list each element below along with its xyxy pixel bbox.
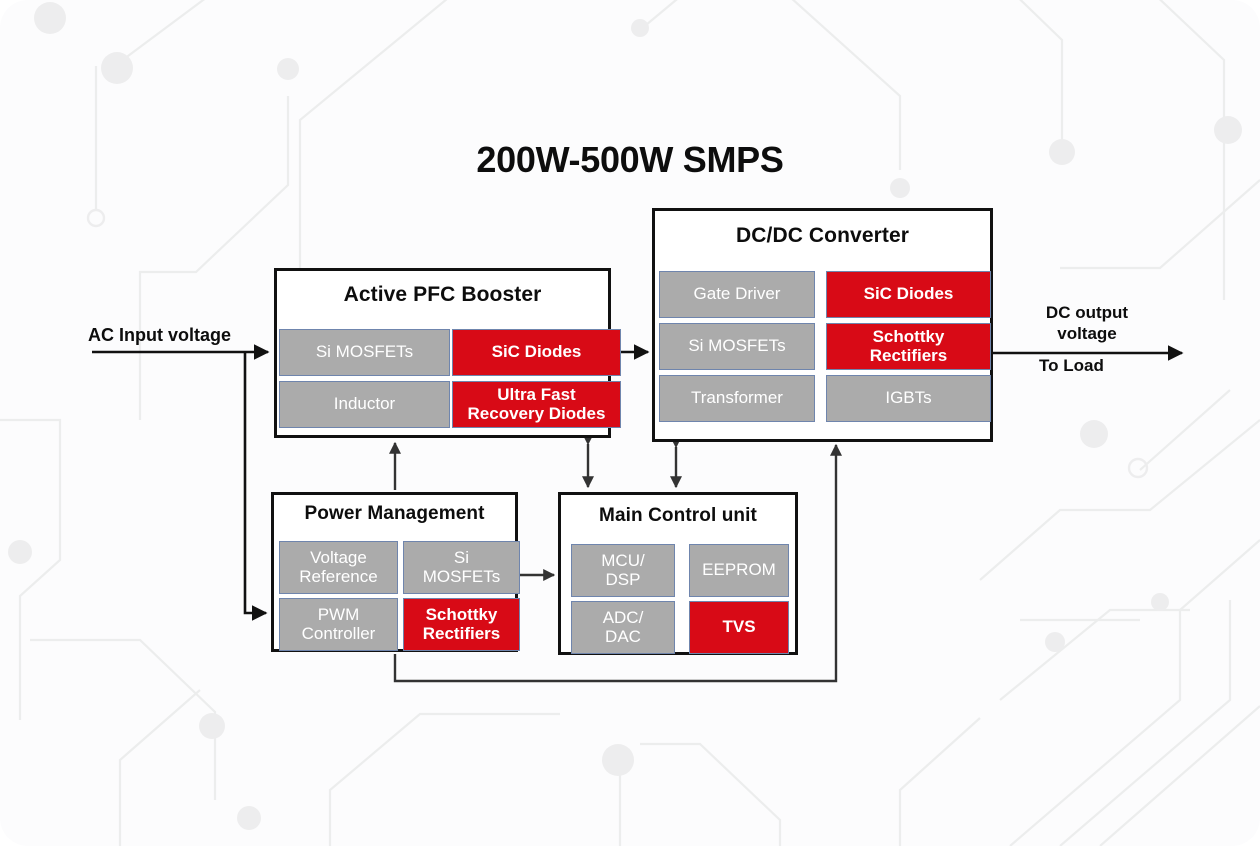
- chip-gate-driver[interactable]: Gate Driver: [659, 271, 815, 318]
- block-main-control-unit[interactable]: Main Control unit MCU/ DSP EEPROM ADC/ D…: [558, 492, 798, 655]
- wire-ac-input-to-power-management: [245, 352, 266, 613]
- chip-si-mosfets[interactable]: Si MOSFETs: [403, 541, 520, 594]
- chip-grid-dc-dc-converter: Gate Driver SiC Diodes Si MOSFETs Schott…: [659, 271, 986, 422]
- block-active-pfc-booster[interactable]: Active PFC Booster Si MOSFETs SiC Diodes…: [274, 268, 611, 438]
- chip-schottky-rectifiers[interactable]: Schottky Rectifiers: [403, 598, 520, 651]
- block-dc-dc-converter[interactable]: DC/DC Converter Gate Driver SiC Diodes S…: [652, 208, 993, 442]
- block-power-management[interactable]: Power Management Voltage Reference Si MO…: [271, 492, 518, 652]
- chip-sic-diodes[interactable]: SiC Diodes: [826, 271, 991, 318]
- chip-grid-power-management: Voltage Reference Si MOSFETs PWM Control…: [279, 541, 515, 651]
- diagram-canvas: 200W-500W SMPS AC Input voltage DC outpu…: [0, 0, 1260, 846]
- label-ac-input-voltage: AC Input voltage: [88, 325, 231, 347]
- chip-si-mosfets[interactable]: Si MOSFETs: [659, 323, 815, 370]
- page-title: 200W-500W SMPS: [0, 138, 1260, 182]
- chip-eeprom[interactable]: EEPROM: [689, 544, 789, 597]
- block-title-main-control-unit: Main Control unit: [561, 495, 795, 538]
- connection-wires: [0, 0, 1260, 846]
- block-title-power-management: Power Management: [274, 495, 515, 535]
- chip-sic-diodes[interactable]: SiC Diodes: [452, 329, 621, 376]
- label-to-load: To Load: [1039, 356, 1104, 377]
- label-dc-output-voltage: DC output voltage: [1028, 303, 1146, 344]
- chip-pwm-controller[interactable]: PWM Controller: [279, 598, 398, 651]
- block-title-active-pfc-booster: Active PFC Booster: [277, 271, 608, 319]
- chip-voltage-reference[interactable]: Voltage Reference: [279, 541, 398, 594]
- chip-tvs[interactable]: TVS: [689, 601, 789, 654]
- chip-si-mosfets[interactable]: Si MOSFETs: [279, 329, 450, 376]
- chip-inductor[interactable]: Inductor: [279, 381, 450, 428]
- chip-ultra-fast-recovery-diodes[interactable]: Ultra Fast Recovery Diodes: [452, 381, 621, 428]
- chip-transformer[interactable]: Transformer: [659, 375, 815, 422]
- chip-grid-main-control-unit: MCU/ DSP EEPROM ADC/ DAC TVS: [571, 544, 785, 654]
- chip-grid-active-pfc-booster: Si MOSFETs SiC Diodes Inductor Ultra Fas…: [279, 329, 606, 428]
- chip-mcu-dsp[interactable]: MCU/ DSP: [571, 544, 675, 597]
- block-title-dc-dc-converter: DC/DC Converter: [655, 211, 990, 262]
- chip-schottky-rectifiers[interactable]: Schottky Rectifiers: [826, 323, 991, 370]
- chip-adc-dac[interactable]: ADC/ DAC: [571, 601, 675, 654]
- chip-igbts[interactable]: IGBTs: [826, 375, 991, 422]
